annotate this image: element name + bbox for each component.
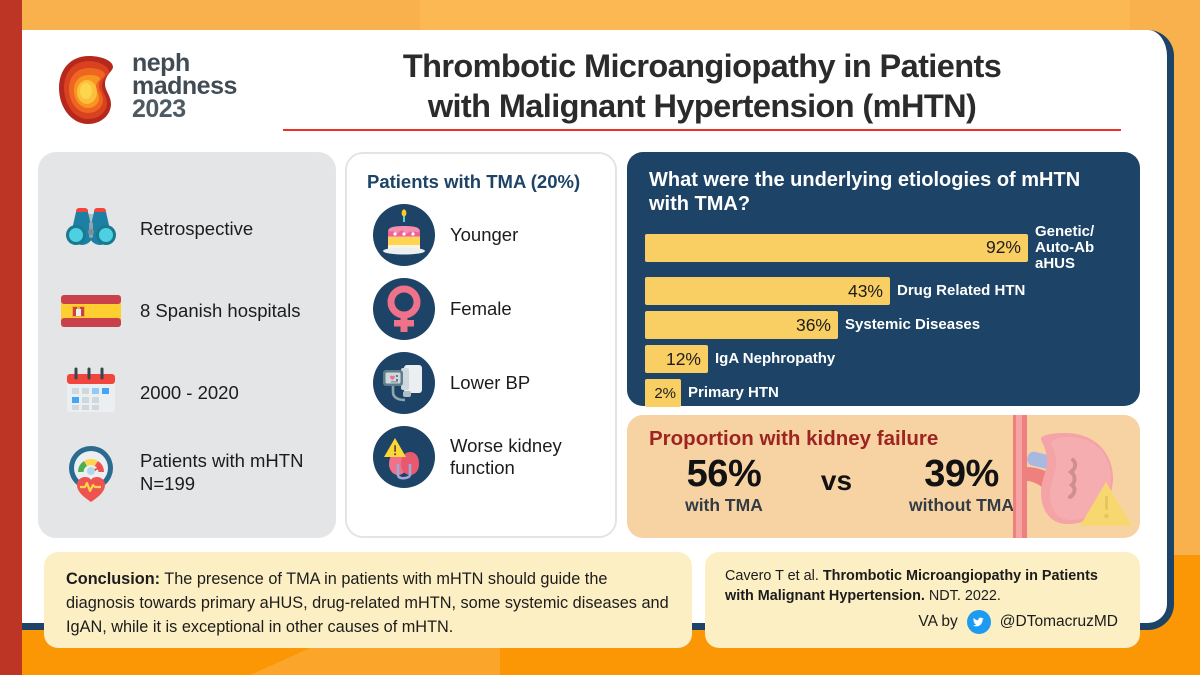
method-item-hospitals: 8 Spanish hospitals [58, 278, 300, 344]
methods-panel: Retrospective 8 Spanish hospitals [38, 152, 336, 538]
bar-row: 43% Drug Related HTN [645, 277, 1135, 305]
tma-item-label: Younger [450, 224, 518, 246]
infographic-root: neph madness 2023 Thrombotic Microangiop… [0, 0, 1200, 675]
bar-category-label: IgA Nephropathy [715, 351, 835, 367]
stat-with-tma: 56% with TMA [649, 455, 799, 516]
twitter-handle[interactable]: @DTomacruzMD [1000, 613, 1118, 631]
kidney-logo-icon [56, 54, 126, 126]
bar-systemic-diseases: 36% [645, 311, 838, 339]
citation-journal: NDT. 2022. [925, 588, 1001, 604]
va-by-label: VA by [918, 613, 957, 631]
bar-row: 2% Primary HTN [645, 379, 1135, 407]
main-card: neph madness 2023 Thrombotic Microangiop… [22, 30, 1174, 630]
kidney-illustration-icon [1005, 415, 1140, 538]
bar-category-label: Drug Related HTN [897, 283, 1025, 299]
tma-item-worse-kidney: Worse kidney function [373, 426, 562, 488]
kidney-warning-icon [373, 426, 435, 488]
bar-value: 12% [666, 349, 701, 370]
stat-percent: 56% [649, 455, 799, 493]
title-underline [283, 129, 1121, 131]
tma-item-younger: Younger [373, 204, 518, 266]
conclusion-label: Conclusion: [66, 570, 160, 588]
tma-item-female: Female [373, 278, 512, 340]
gauge-heart-icon [58, 440, 124, 506]
calendar-icon [58, 360, 124, 426]
tma-item-label: Lower BP [450, 372, 530, 394]
spain-flag-icon [58, 278, 124, 344]
bar-category-label: Systemic Diseases [845, 317, 980, 333]
logo-wordmark: neph madness 2023 [132, 52, 237, 121]
method-item-patients: Patients with mHTN N=199 [58, 440, 303, 506]
bar-category-label: Genetic/ Auto-Ab aHUS [1035, 224, 1135, 271]
top-orange-band-light [420, 0, 1200, 30]
bar-category-label: Primary HTN [688, 385, 779, 401]
conclusion-panel: Conclusion: The presence of TMA in patie… [44, 552, 692, 648]
female-symbol-icon [373, 278, 435, 340]
bar-row: 36% Systemic Diseases [645, 311, 1135, 339]
bar-iga-nephropathy: 12% [645, 345, 708, 373]
visual-abstract-credit: VA by @DTomacruzMD [918, 610, 1118, 634]
bar-value: 2% [654, 385, 676, 402]
bar-chart: 92% Genetic/ Auto-Ab aHUS 43% Drug Relat… [645, 224, 1135, 413]
binoculars-icon [58, 196, 124, 262]
method-label: Patients with mHTN N=199 [140, 450, 303, 495]
tma-item-label: Female [450, 298, 512, 320]
bar-value: 92% [986, 237, 1021, 258]
bar-drug-related-htn: 43% [645, 277, 890, 305]
method-item-years: 2000 - 2020 [58, 360, 239, 426]
method-label: 2000 - 2020 [140, 382, 239, 405]
kidney-failure-panel: Proportion with kidney failure 56% with … [627, 415, 1140, 538]
vs-label: vs [821, 465, 852, 497]
bar-primary-htn: 2% [645, 379, 681, 407]
logo-line-year: 2023 [132, 98, 237, 121]
chart-question-title: What were the underlying etiologies of m… [649, 168, 1104, 217]
nephmadness-logo: neph madness 2023 [56, 52, 286, 128]
bar-value: 36% [796, 315, 831, 336]
tma-panel-title: Patients with TMA (20%) [367, 171, 580, 193]
tma-item-label: Worse kidney function [450, 435, 562, 479]
blood-pressure-monitor-icon [373, 352, 435, 414]
conclusion-text: Conclusion: The presence of TMA in patie… [66, 568, 674, 639]
stat-sublabel: with TMA [649, 495, 799, 516]
kidney-failure-stats: 56% with TMA vs 39% without TMA [649, 455, 1049, 516]
twitter-icon[interactable] [967, 610, 991, 634]
bar-value: 43% [848, 281, 883, 302]
page-title: Thrombotic Microangiopathy in Patients w… [277, 46, 1127, 131]
title-line-2: with Malignant Hypertension (mHTN) [277, 86, 1127, 126]
bar-row: 92% Genetic/ Auto-Ab aHUS [645, 224, 1135, 271]
title-line-1: Thrombotic Microangiopathy in Patients [277, 46, 1127, 86]
left-red-band [0, 0, 22, 675]
method-label: Retrospective [140, 218, 253, 241]
kidney-failure-title: Proportion with kidney failure [649, 427, 938, 451]
citation-authors: Cavero T et al. [725, 568, 823, 584]
method-label: 8 Spanish hospitals [140, 300, 300, 323]
bar-genetic-ahus: 92% [645, 234, 1028, 262]
bar-row: 12% IgA Nephropathy [645, 345, 1135, 373]
tma-panel: Patients with TMA (20%) [345, 152, 617, 538]
citation-panel: Cavero T et al. Thrombotic Microangiopat… [705, 552, 1140, 648]
citation-text: Cavero T et al. Thrombotic Microangiopat… [725, 567, 1125, 607]
birthday-cake-icon [373, 204, 435, 266]
header: neph madness 2023 Thrombotic Microangiop… [22, 30, 1152, 142]
etiologies-chart-panel: What were the underlying etiologies of m… [627, 152, 1140, 406]
tma-item-lower-bp: Lower BP [373, 352, 530, 414]
method-item-retrospective: Retrospective [58, 196, 253, 262]
